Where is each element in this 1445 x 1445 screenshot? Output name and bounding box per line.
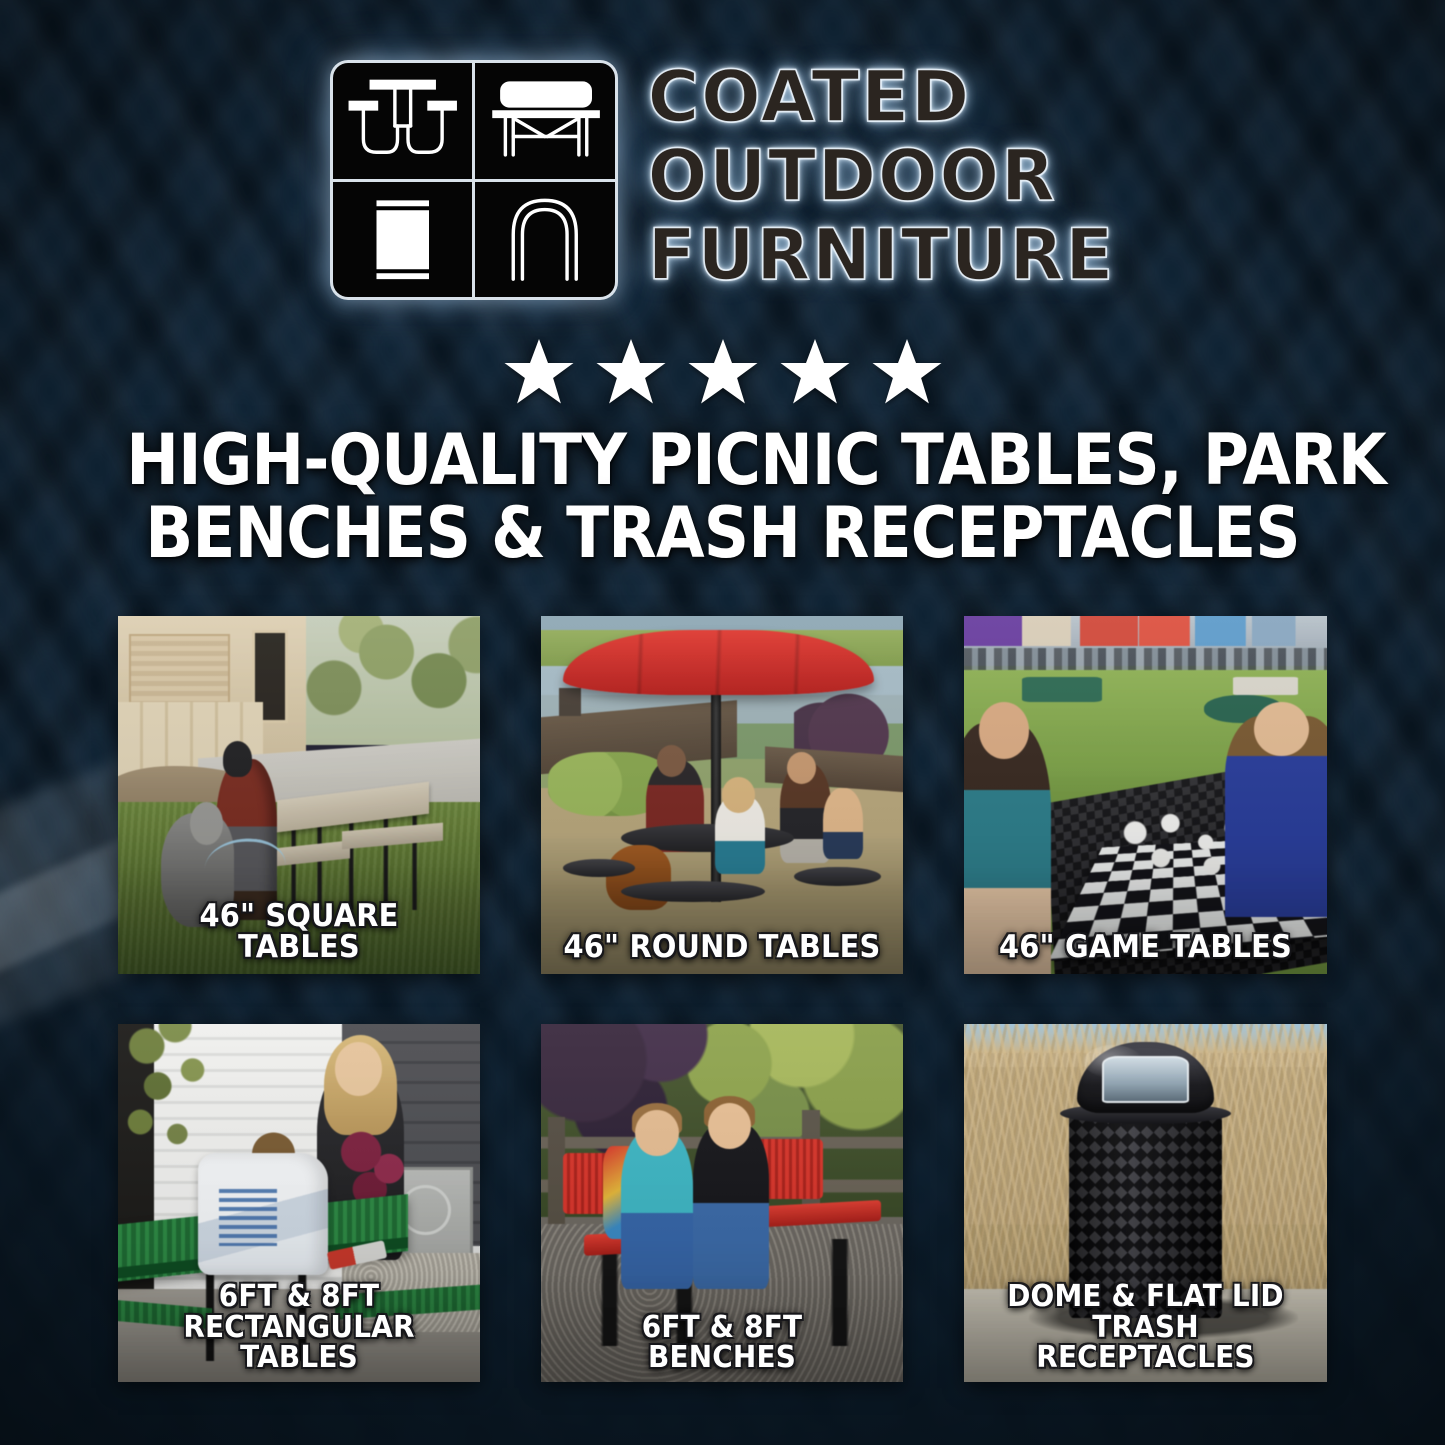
headline-line-2: BENCHES & TRASH RECEPTACLES [126, 497, 1319, 570]
picnic-table-icon [333, 63, 473, 179]
product-grid: 46" SQUARE TABLES [118, 616, 1327, 1382]
product-caption: 6FT & 8FT RECTANGULAR TABLES [136, 1282, 462, 1374]
product-caption: 46" SQUARE TABLES [136, 901, 462, 964]
logo-line-1: COATED [648, 64, 1116, 131]
product-caption-line-1: 46" GAME TABLES [982, 932, 1308, 964]
product-tile-trash-receptacles[interactable]: DOME & FLAT LID TRASH RECEPTACLES [964, 1024, 1327, 1382]
product-caption-line-2: BENCHES [559, 1343, 885, 1374]
trash-receptacle-icon [333, 182, 473, 298]
star-icon [778, 336, 852, 408]
product-caption: 6FT & 8FT BENCHES [559, 1313, 885, 1374]
star-icon [870, 336, 944, 408]
product-caption: DOME & FLAT LID TRASH RECEPTACLES [982, 1282, 1308, 1374]
product-tile-rectangular-tables[interactable]: 6FT & 8FT RECTANGULAR TABLES [118, 1024, 480, 1382]
star-icon [594, 336, 668, 408]
product-tile-game-tables[interactable]: 46" GAME TABLES [964, 616, 1327, 974]
product-caption-line-1: 46" ROUND TABLES [559, 932, 885, 964]
headline: HIGH-QUALITY PICNIC TABLES, PARK BENCHES… [126, 424, 1319, 570]
bike-rack-icon [475, 182, 615, 298]
product-caption-line-2: TRASH RECEPTACLES [982, 1313, 1308, 1374]
product-caption: 46" ROUND TABLES [559, 932, 885, 964]
product-tile-round-tables[interactable]: 46" ROUND TABLES [541, 616, 903, 974]
star-icon [686, 336, 760, 408]
logo-line-2: OUTDOOR [648, 143, 1116, 210]
headline-line-1: HIGH-QUALITY PICNIC TABLES, PARK [126, 424, 1319, 497]
logo-wordmark: COATED OUTDOOR FURNITURE [648, 60, 1116, 290]
marketing-poster: COATED OUTDOOR FURNITURE HIGH-QUALITY PI… [0, 0, 1445, 1445]
product-caption-line-1: 6FT & 8FT [559, 1313, 885, 1344]
product-tile-benches[interactable]: 6FT & 8FT BENCHES [541, 1024, 903, 1382]
brand-logo: COATED OUTDOOR FURNITURE [0, 60, 1445, 300]
product-caption-line-1: 6FT & 8FT [136, 1282, 462, 1313]
product-tile-square-tables[interactable]: 46" SQUARE TABLES [118, 616, 480, 974]
logo-mark-quadrants [330, 60, 618, 300]
bench-icon [475, 63, 615, 179]
product-caption: 46" GAME TABLES [982, 932, 1308, 964]
star-icon [502, 336, 576, 408]
product-caption-line-2: RECTANGULAR TABLES [136, 1313, 462, 1374]
product-caption-line-1: DOME & FLAT LID [982, 1282, 1308, 1313]
star-rating [0, 336, 1445, 408]
logo-line-3: FURNITURE [648, 222, 1116, 289]
product-caption-line-1: 46" SQUARE TABLES [136, 901, 462, 964]
